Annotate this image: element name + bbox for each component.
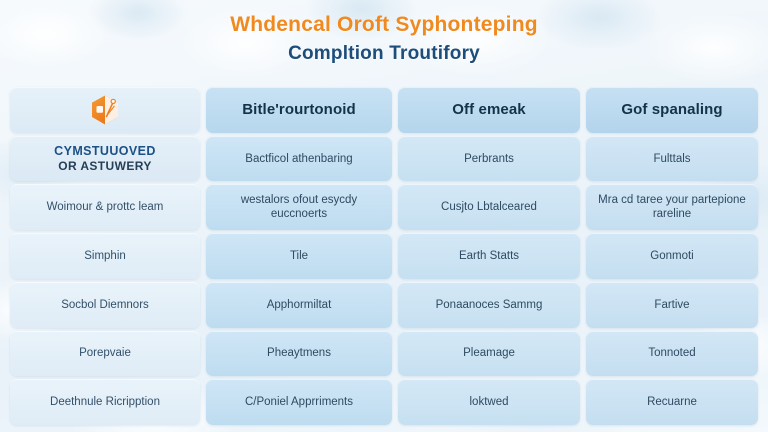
table-cell[interactable]: Pheaytmens	[206, 331, 392, 377]
brand-heading-line-2: OR ASTUWERY	[58, 159, 152, 173]
table-cell[interactable]: Earth Statts	[398, 233, 580, 279]
brand-heading-line-1: CYMSTUUOVED	[54, 144, 156, 158]
cell-label: Ponaanoces Sammg	[436, 298, 543, 312]
cell-label: Tonnoted	[648, 346, 695, 360]
table-column-4: Gof spanaling Fulttals Mra cd taree your…	[586, 87, 758, 425]
cell-label: Mra cd taree your partepione rareline	[594, 193, 750, 221]
cell-label: westalors ofout esycdy euccnoerts	[214, 193, 384, 221]
table-cell[interactable]: Mra cd taree your partepione rareline	[586, 184, 758, 230]
comparison-table-page: Whdencal Oroft Syphonteping Compltion Tr…	[0, 0, 768, 432]
table-cell[interactable]: Tonnoted	[586, 331, 758, 377]
title-secondary-line: Compltion Troutifory	[0, 40, 768, 68]
table-cell[interactable]: Cusjto Lbtalceared	[398, 184, 580, 230]
cell-label: Perbrants	[464, 152, 514, 166]
table-cell[interactable]: Deethnule Ricripption	[10, 379, 200, 425]
cell-label: Bactficol athenbaring	[245, 152, 352, 166]
table-cell[interactable]: Simphin	[10, 233, 200, 279]
table-cell[interactable]: Perbrants	[398, 136, 580, 182]
cell-label: Pheaytmens	[267, 346, 331, 360]
orange-hexagon-cube-icon	[90, 94, 120, 126]
cell-label: Simphin	[84, 249, 126, 263]
column-header-4[interactable]: Gof spanaling	[586, 87, 758, 133]
cell-label: Earth Statts	[459, 249, 519, 263]
table-cell[interactable]: Apphormiltat	[206, 282, 392, 328]
table-cell[interactable]: Woimour & prottc leam	[10, 184, 200, 230]
cell-label: Tile	[290, 249, 308, 263]
cell-label: Porepvaie	[79, 346, 131, 360]
cell-label: Deethnule Ricripption	[50, 395, 160, 409]
cell-label: Fulttals	[653, 152, 690, 166]
column-header-2[interactable]: Bitle'rourtonoid	[206, 87, 392, 133]
table-column-3: Off emeak Perbrants Cusjto Lbtalceared E…	[398, 87, 580, 425]
column-header-3[interactable]: Off emeak	[398, 87, 580, 133]
cell-label: Recuarne	[647, 395, 697, 409]
cell-label: C/Poniel Apprriments	[245, 395, 353, 409]
table-cell[interactable]: Tile	[206, 233, 392, 279]
table-cell[interactable]: Gonmoti	[586, 233, 758, 279]
brand-heading-cell: CYMSTUUOVED OR ASTUWERY	[10, 136, 200, 182]
cell-label: Apphormiltat	[267, 298, 332, 312]
cell-label: Pleamage	[463, 346, 515, 360]
title-primary-line: Whdencal Oroft Syphonteping	[0, 10, 768, 40]
page-title: Whdencal Oroft Syphonteping Compltion Tr…	[0, 10, 768, 68]
comparison-grid: CYMSTUUOVED OR ASTUWERY Woimour & prottc…	[10, 87, 758, 425]
cell-label: Woimour & prottc leam	[47, 200, 164, 214]
table-cell[interactable]: loktwed	[398, 379, 580, 425]
table-cell[interactable]: Recuarne	[586, 379, 758, 425]
table-cell[interactable]: C/Poniel Apprriments	[206, 379, 392, 425]
table-cell[interactable]: Bactficol athenbaring	[206, 136, 392, 182]
table-cell[interactable]: Fulttals	[586, 136, 758, 182]
table-cell[interactable]: Fartive	[586, 282, 758, 328]
cell-label: Gonmoti	[650, 249, 693, 263]
table-column-brand: CYMSTUUOVED OR ASTUWERY Woimour & prottc…	[10, 87, 200, 425]
brand-icon-cell	[10, 87, 200, 133]
table-cell[interactable]: Socbol Diemnors	[10, 282, 200, 328]
table-cell[interactable]: Porepvaie	[10, 331, 200, 377]
table-column-2: Bitle'rourtonoid Bactficol athenbaring w…	[206, 87, 392, 425]
cell-label: loktwed	[470, 395, 509, 409]
table-cell[interactable]: westalors ofout esycdy euccnoerts	[206, 184, 392, 230]
cell-label: Fartive	[654, 298, 689, 312]
cell-label: Socbol Diemnors	[61, 298, 149, 312]
table-cell[interactable]: Ponaanoces Sammg	[398, 282, 580, 328]
cell-label: Cusjto Lbtalceared	[441, 200, 537, 214]
table-cell[interactable]: Pleamage	[398, 331, 580, 377]
